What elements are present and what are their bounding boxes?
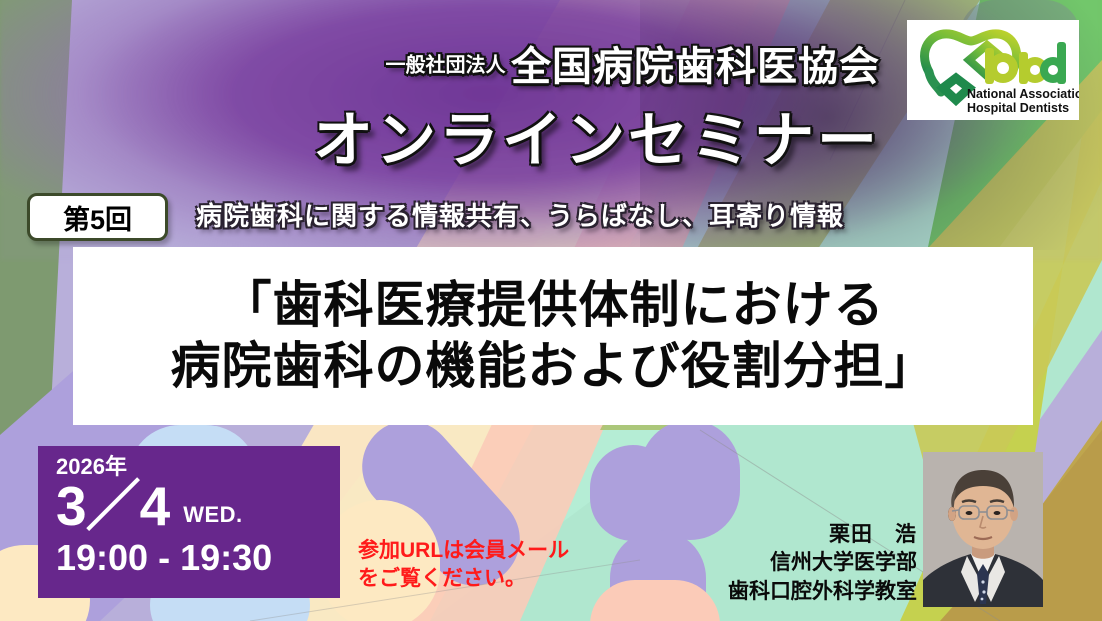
organization-heading: 一般社団法人 全国病院歯科医協会 [0,34,880,92]
date-month-day: 3／4 [56,479,169,534]
speaker-name: 栗田 浩 [620,521,917,549]
speaker-affiliation-line2: 歯科口腔外科学教室 [620,578,917,606]
nahd-logo-mark: National Association of Hospital Dentist… [907,20,1079,120]
speaker-affiliation-line1: 信州大学医学部 [620,549,917,577]
date-weekday: WED. [183,504,242,534]
logo-subtitle-line1: National Association of [967,87,1079,101]
nahd-logo: National Association of Hospital Dentist… [907,20,1079,120]
date-box: 2026年 3／4 WED. 19:00 - 19:30 [38,446,340,598]
date-time-range: 19:00 - 19:30 [56,540,340,576]
event-type-heading: オンラインセミナー [0,92,880,179]
speaker-photo [923,452,1043,607]
organization-name: 全国病院歯科医協会 [511,45,880,89]
participation-url-note-line1: 参加URLは会員メール [358,537,569,565]
round-number-badge: 第5回 [27,193,168,241]
seminar-title-line2: 病院歯科の機能および役割分担」 [171,336,936,397]
participation-url-note: 参加URLは会員メール をご覧ください。 [358,537,569,594]
seminar-title-card: 「歯科医療提供体制における 病院歯科の機能および役割分担」 [73,247,1033,425]
seminar-title-line1: 「歯科医療提供体制における [222,275,885,336]
logo-subtitle-line2: Hospital Dentists [967,101,1069,115]
participation-url-note-line2: をご覧ください。 [358,565,569,593]
speaker-info: 栗田 浩 信州大学医学部 歯科口腔外科学教室 [620,521,917,606]
seminar-poster: National Association of Hospital Dentist… [0,0,1102,621]
organization-prefix: 一般社団法人 [386,55,506,77]
tagline: 病院歯科に関する情報共有、うらばなし、耳寄り情報 [196,196,844,233]
speaker-portrait-image [923,452,1043,607]
